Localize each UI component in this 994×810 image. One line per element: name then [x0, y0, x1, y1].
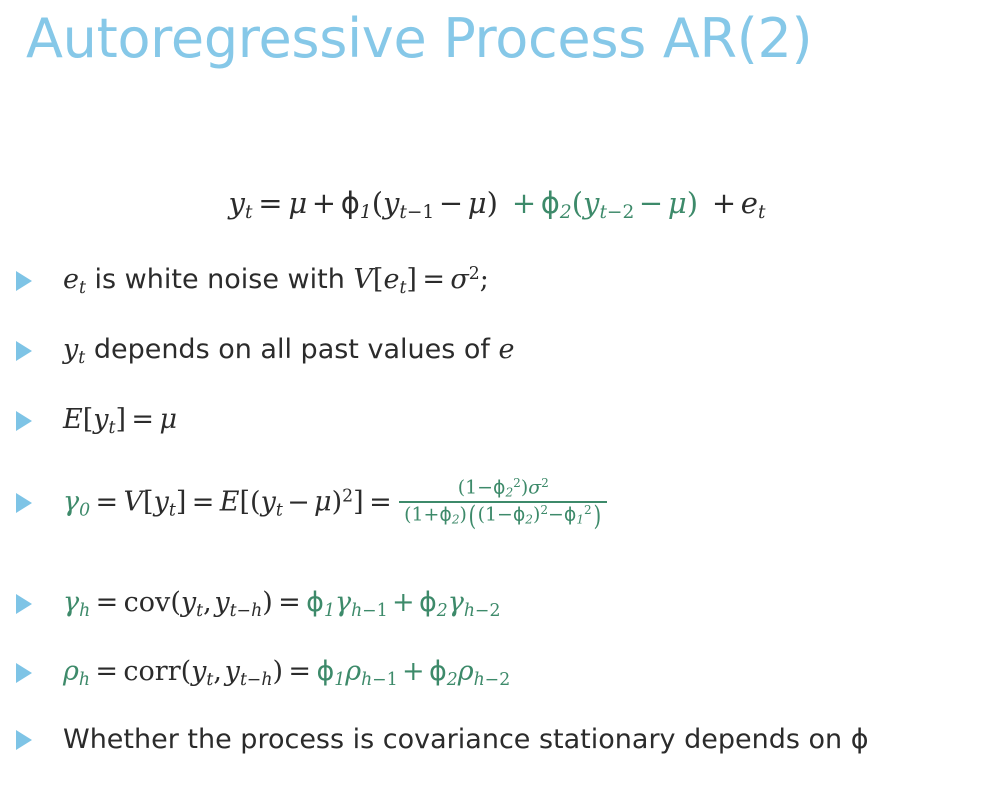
- symbol-phi1-subscript: 1: [334, 670, 345, 690]
- bullet-space: [842, 724, 851, 755]
- symbol-comma: ,: [213, 656, 222, 687]
- symbol-rparen-1: ): [487, 186, 498, 220]
- symbol-y: y: [154, 487, 169, 518]
- symbol-gamma: γ: [63, 587, 79, 618]
- symbol-subscript-t-minus-h: t−h: [230, 601, 263, 621]
- symbol-mu-2: μ: [468, 186, 487, 220]
- symbol-semicolon: ;: [480, 264, 489, 295]
- symbol-equals-3: =: [364, 487, 397, 518]
- symbol-y-2: y: [225, 656, 240, 687]
- symbol-subscript-h-minus-2: h−2: [474, 670, 511, 690]
- symbol-subscript-t-minus-2: t−2: [599, 202, 634, 223]
- symbol-rho-3: ρ: [458, 656, 474, 687]
- operator-cov: cov: [124, 587, 171, 618]
- symbol-subscript-h-minus-1: h−1: [351, 601, 388, 621]
- equation-green-term: +ϕ2(yt−2−μ): [507, 186, 707, 220]
- symbol-mu: μ: [288, 186, 307, 220]
- list-item: Whether the process is covariance statio…: [0, 724, 994, 755]
- variance-fraction: (1−ϕ22)σ2 (1+ϕ2)((1−ϕ2)2−ϕ12): [399, 477, 607, 527]
- triangle-right-icon: [16, 341, 32, 361]
- symbol-sigma: σ: [450, 264, 468, 295]
- symbol-rbrack-1: ]: [176, 487, 187, 518]
- symbol-y-lag1: y: [383, 186, 399, 220]
- symbol-lparen: (: [250, 487, 261, 518]
- symbol-mu: μ: [159, 404, 177, 435]
- symbol-equals: =: [252, 186, 288, 220]
- page-title: Autoregressive Process AR(2): [26, 12, 812, 66]
- symbol-e: e: [499, 334, 515, 365]
- symbol-rparen: ): [332, 487, 343, 518]
- triangle-right-icon: [16, 730, 32, 750]
- list-item: et is white noise with V[et]=σ2;: [0, 264, 994, 299]
- symbol-equals: =: [126, 404, 159, 435]
- symbol-y: y: [191, 656, 206, 687]
- symbol-plus: +: [398, 656, 429, 687]
- symbol-lparen: (: [181, 656, 192, 687]
- symbol-rparen: ): [262, 587, 273, 618]
- symbol-y: y: [181, 587, 196, 618]
- symbol-lparen-2: (: [572, 186, 583, 220]
- bullet-expectation: E[yt]=μ: [63, 404, 177, 439]
- symbol-plus-3: +: [707, 186, 741, 220]
- equation-black-rhs: +et: [707, 186, 765, 220]
- bullet-gamma-h: γh=cov(yt, yt−h)=ϕ1γh−1+ϕ2γh−2: [63, 587, 500, 622]
- symbol-rbrack-2: ]: [353, 487, 364, 518]
- symbol-y: y: [93, 404, 108, 435]
- symbol-mu-3: μ: [668, 186, 687, 220]
- symbol-subscript-t-minus-h: t−h: [240, 670, 273, 690]
- symbol-superscript-2: 2: [342, 487, 353, 507]
- triangle-right-icon: [16, 271, 32, 291]
- bullet-prose: [85, 334, 94, 365]
- symbol-E: E: [63, 404, 83, 435]
- symbol-y-lag2: y: [583, 186, 599, 220]
- symbol-phi-1: ϕ: [341, 186, 360, 220]
- symbol-phi: ϕ: [851, 724, 869, 755]
- symbol-y-2: y: [261, 487, 276, 518]
- symbol-y-2: y: [214, 587, 229, 618]
- triangle-right-icon: [16, 663, 32, 683]
- symbol-phi1-subscript: 1: [324, 601, 335, 621]
- bullet-white-noise: et is white noise with V[et]=σ2;: [63, 264, 489, 299]
- operator-corr: corr: [123, 656, 180, 687]
- symbol-subscript-h-minus-2: h−2: [464, 601, 501, 621]
- symbol-gamma-3: γ: [448, 587, 464, 618]
- symbol-equals: =: [417, 264, 450, 295]
- bullet-prose-text: depends on all past values of: [94, 334, 490, 365]
- symbol-rbrack: ]: [115, 404, 126, 435]
- equation-black-lhs: yt=μ+ϕ1(yt−1−μ): [229, 186, 508, 220]
- symbol-rbrack: ]: [406, 264, 417, 295]
- symbol-phi1-subscript: 1: [360, 202, 372, 223]
- symbol-rparen: ): [272, 656, 283, 687]
- symbol-e: e: [741, 186, 758, 220]
- list-item: γh=cov(yt, yt−h)=ϕ1γh−1+ϕ2γh−2: [0, 587, 994, 622]
- bullet-stationarity: Whether the process is covariance statio…: [63, 724, 869, 755]
- symbol-minus-1: −: [434, 186, 468, 220]
- symbol-E: E: [220, 487, 240, 518]
- symbol-subscript-t: t: [79, 278, 86, 298]
- symbol-subscript-0: 0: [79, 501, 90, 521]
- triangle-right-icon: [16, 493, 32, 513]
- symbol-phi-2: ϕ: [419, 587, 437, 618]
- symbol-e-subscript-t: t: [758, 202, 765, 223]
- symbol-lbrack-1: [: [143, 487, 154, 518]
- fraction-denominator: (1+ϕ2)((1−ϕ2)2−ϕ12): [399, 501, 607, 527]
- symbol-phi2-subscript: 2: [560, 202, 572, 223]
- symbol-lparen: (: [170, 587, 181, 618]
- symbol-plus-1: +: [307, 186, 341, 220]
- bullet-rho-h: ρh=corr(yt, yt−h)=ϕ1ρh−1+ϕ2ρh−2: [63, 656, 510, 691]
- symbol-comma: ,: [203, 587, 212, 618]
- list-item: yt depends on all past values of e: [0, 334, 994, 369]
- triangle-right-icon: [16, 411, 32, 431]
- symbol-mu: μ: [314, 487, 332, 518]
- symbol-minus-2: −: [634, 186, 668, 220]
- symbol-gamma-2: γ: [335, 587, 351, 618]
- symbol-e: e: [63, 264, 79, 295]
- symbol-plus: +: [388, 587, 419, 618]
- symbol-phi-1: ϕ: [306, 587, 324, 618]
- symbol-subscript-t-2: t: [276, 501, 283, 521]
- symbol-subscript-h: h: [79, 670, 90, 690]
- symbol-gamma: γ: [63, 487, 79, 518]
- symbol-subscript-h: h: [79, 601, 90, 621]
- symbol-rho-2: ρ: [345, 656, 361, 687]
- symbol-subscript-t: t: [169, 501, 176, 521]
- symbol-equals-1: =: [90, 656, 123, 687]
- symbol-subscript-t-minus-1: t−1: [399, 202, 434, 223]
- symbol-phi-2: ϕ: [541, 186, 560, 220]
- symbol-subscript-h-minus-1: h−1: [361, 670, 398, 690]
- symbol-y: y: [63, 334, 78, 365]
- symbol-y: y: [229, 186, 245, 220]
- list-item: ρh=corr(yt, yt−h)=ϕ1ρh−1+ϕ2ρh−2: [0, 656, 994, 691]
- bullet-depends-past: yt depends on all past values of e: [63, 334, 514, 369]
- bullet-prose-text: Whether the process is covariance statio…: [63, 724, 842, 755]
- list-item: γ0=V[yt]=E[(yt−μ)2]= (1−ϕ22)σ2 (1+ϕ2)((1…: [0, 478, 994, 528]
- symbol-equals-2: =: [186, 487, 219, 518]
- main-equation: yt=μ+ϕ1(yt−1−μ) +ϕ2(yt−2−μ) +et: [0, 186, 994, 223]
- symbol-phi2-subscript: 2: [447, 670, 458, 690]
- symbol-lbrack-2: [: [239, 487, 250, 518]
- symbol-equals-2: =: [273, 587, 306, 618]
- symbol-minus: −: [283, 487, 314, 518]
- symbol-plus-2: +: [507, 186, 541, 220]
- fraction-numerator: (1−ϕ22)σ2: [399, 477, 607, 501]
- bullet-gamma-zero: γ0=V[yt]=E[(yt−μ)2]= (1−ϕ22)σ2 (1+ϕ2)((1…: [63, 478, 609, 528]
- triangle-right-icon: [16, 594, 32, 614]
- symbol-phi-2: ϕ: [429, 656, 447, 687]
- symbol-equals-1: =: [90, 587, 123, 618]
- symbol-rho: ρ: [63, 656, 79, 687]
- symbol-equals-2: =: [283, 656, 316, 687]
- bullet-space: [490, 334, 499, 365]
- symbol-V: V: [353, 264, 373, 295]
- symbol-phi2-subscript: 2: [437, 601, 448, 621]
- symbol-lparen-1: (: [372, 186, 383, 220]
- symbol-lbrack: [: [373, 264, 384, 295]
- list-item: E[yt]=μ: [0, 404, 994, 439]
- bullet-prose: is white noise with: [86, 264, 353, 295]
- symbol-rparen-2: ): [687, 186, 698, 220]
- symbol-V: V: [124, 487, 144, 518]
- symbol-lbrack: [: [83, 404, 94, 435]
- symbol-e-2: e: [383, 264, 399, 295]
- symbol-superscript-2: 2: [469, 264, 480, 284]
- symbol-phi-1: ϕ: [316, 656, 334, 687]
- symbol-equals-1: =: [90, 487, 123, 518]
